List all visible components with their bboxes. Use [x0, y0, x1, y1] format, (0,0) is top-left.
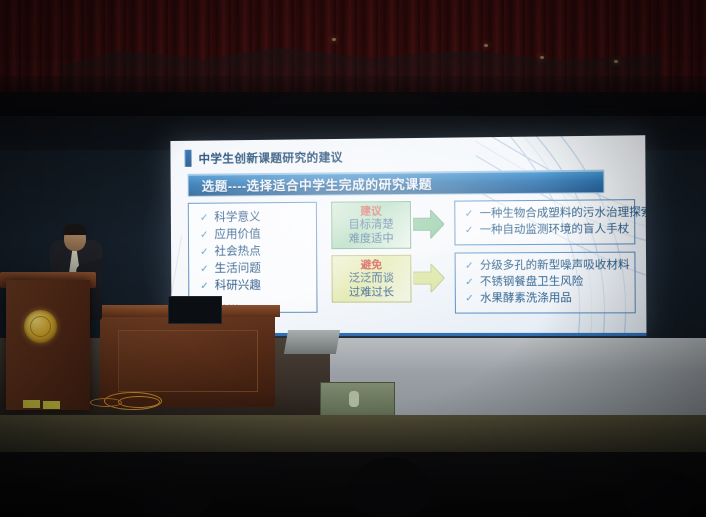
- criteria-label: 应用价值: [214, 227, 260, 242]
- advice-block-avoid: 避免 泛泛而谈 过难过长: [331, 255, 446, 303]
- example-box-good: ✓ 一种生物合成塑料的污水治理探索 ✓ 一种自动监测环境的盲人手杖: [454, 199, 635, 245]
- advice-block-suggest: 建议 目标清楚 难度适中: [331, 201, 446, 249]
- stage-cable: [90, 398, 122, 407]
- list-item: ✓ 不锈钢餐盘卫生风险: [456, 274, 635, 290]
- list-item: ✓ 一种生物合成塑料的污水治理探索: [455, 205, 634, 222]
- floor-marker: [23, 400, 40, 408]
- check-icon: ✓: [200, 262, 209, 277]
- side-table-panel: [118, 330, 258, 392]
- arrow-right-icon: [413, 210, 444, 239]
- list-item: ✓ 科研兴趣: [189, 278, 316, 293]
- check-icon: ✓: [465, 259, 474, 274]
- example-label: 不锈钢餐盘卫生风险: [480, 274, 583, 290]
- podium-emblem-icon: [24, 310, 57, 343]
- speaker-hair: [63, 224, 87, 235]
- example-label: 一种自动监测环境的盲人手杖: [480, 222, 630, 238]
- avoid-line: 泛泛而谈: [349, 272, 394, 285]
- check-icon: ✓: [465, 275, 474, 290]
- green-equipment-case: [320, 382, 395, 417]
- criteria-label: 生活问题: [215, 262, 261, 277]
- rig-light-icon: [484, 44, 488, 47]
- list-item: ✓ 社会热点: [189, 244, 316, 260]
- check-icon: ✓: [465, 291, 474, 306]
- example-box-more: ✓ 分级多孔的新型噪声吸收材料 ✓ 不锈钢餐盘卫生风险 ✓ 水果酵素洗涤用品: [455, 252, 636, 314]
- stage-cable: [118, 396, 160, 408]
- audience-head: [348, 457, 432, 517]
- slide-banner: 选题----选择适合中学生完成的研究课题: [188, 170, 605, 197]
- page-title: 中学生创新课题研究的建议: [198, 149, 342, 167]
- example-label: 分级多孔的新型噪声吸收材料: [480, 258, 630, 274]
- list-item: ✓ 水果酵素洗涤用品: [456, 291, 635, 307]
- audience-head: [140, 483, 210, 517]
- confidence-monitor: [168, 296, 222, 324]
- rig-light-icon: [332, 38, 336, 41]
- suggest-line: 难度适中: [349, 232, 394, 245]
- laptop: [284, 330, 340, 354]
- slide-content: 中学生创新课题研究的建议 选题----选择适合中学生完成的研究课题 ✓ 科学意义…: [170, 135, 646, 333]
- suggest-heading: 建议: [360, 205, 382, 217]
- auditorium-scene: 中学生创新课题研究的建议 选题----选择适合中学生完成的研究课题 ✓ 科学意义…: [0, 0, 706, 517]
- criteria-label: 科学意义: [214, 210, 260, 225]
- check-icon: ✓: [465, 223, 474, 238]
- avoid-heading: 避免: [361, 258, 383, 270]
- avoid-box: 避免 泛泛而谈 过难过长: [331, 255, 411, 303]
- title-accent-bar: [184, 150, 191, 167]
- podium: [6, 280, 90, 410]
- examples-column: ✓ 一种生物合成塑料的污水治理探索 ✓ 一种自动监测环境的盲人手杖 ✓ 分级多孔…: [454, 199, 636, 321]
- slide-title-row: 中学生创新课题研究的建议: [184, 148, 342, 167]
- example-label: 一种生物合成塑料的污水治理探索: [480, 205, 647, 222]
- slide-banner-text: 选题----选择适合中学生完成的研究课题: [189, 173, 433, 194]
- check-icon: ✓: [200, 245, 209, 260]
- list-item: ✓ 科学意义: [189, 210, 316, 226]
- check-icon: ✓: [200, 211, 209, 226]
- list-item: ✓ 一种自动监测环境的盲人手杖: [455, 222, 634, 239]
- advice-column: 建议 目标清楚 难度适中 避免 泛泛而谈 过难过长: [331, 201, 447, 309]
- check-icon: ✓: [200, 228, 209, 243]
- rig-light-icon: [614, 60, 618, 63]
- criteria-label: 社会热点: [214, 244, 260, 259]
- suggest-box: 建议 目标清楚 难度适中: [331, 201, 411, 249]
- floor-marker: [43, 401, 60, 409]
- avoid-line: 过难过长: [349, 286, 394, 299]
- suggest-line: 目标清楚: [349, 218, 394, 231]
- audience-head: [622, 467, 696, 517]
- criteria-label: 科研兴趣: [215, 279, 261, 294]
- arrow-right-icon: [413, 264, 444, 293]
- list-item: ✓ 应用价值: [189, 227, 316, 243]
- example-label: 水果酵素洗涤用品: [480, 291, 572, 307]
- check-icon: ✓: [200, 279, 209, 294]
- rig-light-icon: [540, 56, 544, 59]
- audience-silhouettes: [0, 452, 706, 517]
- case-handle-icon: [349, 391, 359, 407]
- list-item: ✓ 分级多孔的新型噪声吸收材料: [456, 258, 635, 274]
- list-item: ✓ 生活问题: [189, 261, 316, 277]
- check-icon: ✓: [465, 207, 474, 222]
